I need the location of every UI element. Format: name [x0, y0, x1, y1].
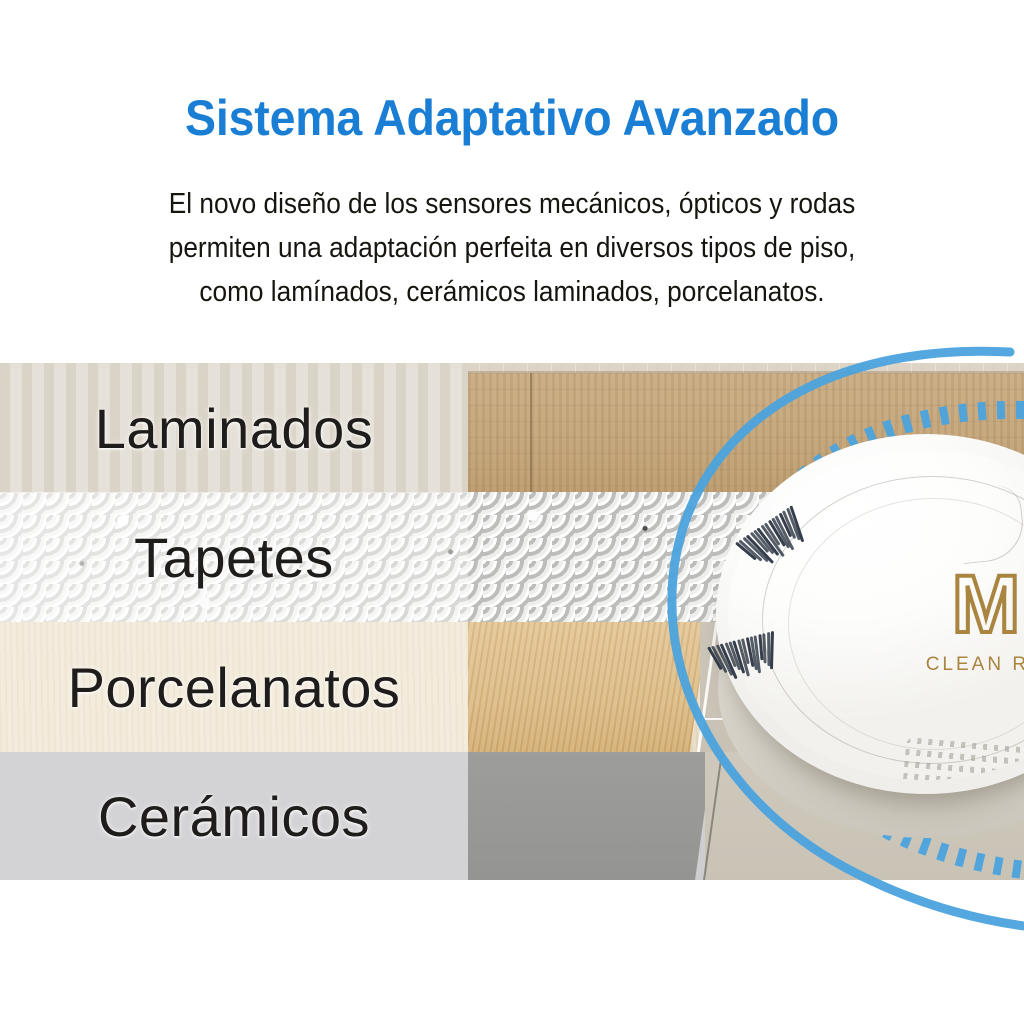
description-line-2: permiten una adaptación perfeita en dive… [41, 226, 983, 270]
light-grey-tile [705, 752, 1024, 880]
description-line-3: como lamínados, cerámicos laminados, por… [41, 270, 983, 314]
footer-whitespace [0, 880, 1024, 1024]
floor-label-ceramicos: Cerámicos [0, 752, 468, 880]
floor-label-tapetes: Tapetes [0, 492, 468, 622]
dark-grey-tile [450, 752, 713, 880]
grout-line-horizontal [700, 718, 1024, 720]
product-feature-banner: Sistema Adaptativo Avanzado El novo dise… [0, 0, 1024, 1024]
floor-type-labels: Laminados Tapetes Porcelanatos Cerámicos [0, 363, 468, 880]
golden-wood-tile [450, 622, 708, 752]
grey-porcelain-tile [700, 622, 1024, 752]
floor-label-porcelanatos: Porcelanatos [0, 622, 468, 752]
description-line-1: El novo diseño de los sensores mecánicos… [41, 182, 983, 226]
header-section: Sistema Adaptativo Avanzado El novo dise… [0, 0, 1024, 363]
floor-label-laminados: Laminados [0, 363, 468, 493]
page-title: Sistema Adaptativo Avanzado [36, 92, 988, 145]
oak-plank-texture [468, 373, 1024, 493]
floor-types-photo: Laminados Tapetes Porcelanatos Cerámicos [0, 363, 1024, 880]
description-paragraph: El novo diseño de los sensores mecánicos… [41, 182, 983, 314]
